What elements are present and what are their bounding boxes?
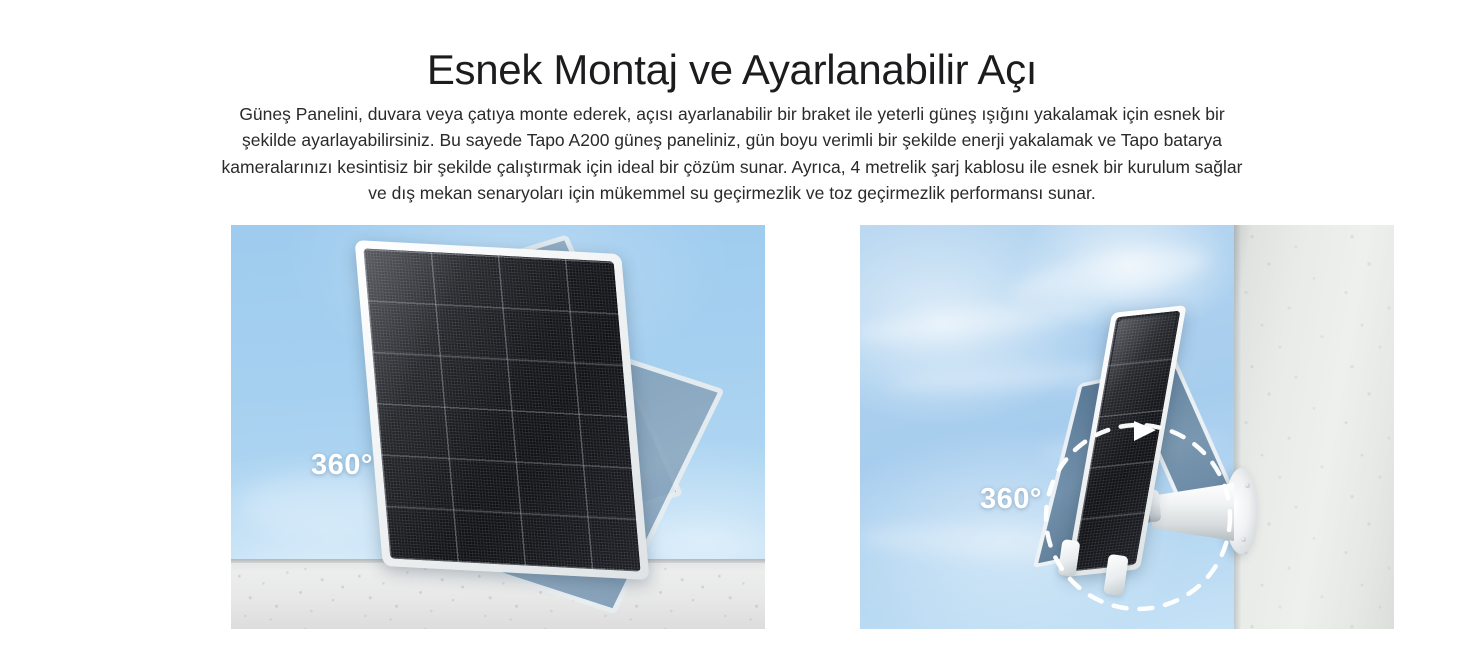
solar-panel <box>355 240 650 580</box>
section-description: Güneş Panelini, duvara veya çatıya monte… <box>212 101 1252 207</box>
feature-image-wall-mount: 360° <box>860 225 1394 629</box>
feature-image-roof-mount: 360° <box>231 225 765 629</box>
page-title: Esnek Montaj ve Ayarlanabilir Açı <box>0 42 1464 98</box>
product-feature-section: Esnek Montaj ve Ayarlanabilir Açı Güneş … <box>0 0 1464 657</box>
rotation-circle-icon <box>1038 417 1238 617</box>
concrete-texture <box>1234 225 1394 629</box>
mount-screw <box>1245 483 1250 488</box>
rotation-label-360: 360° <box>980 483 1042 516</box>
mount-screw <box>1241 537 1246 542</box>
feature-image-row: 360° <box>191 209 1274 613</box>
panel-cell-grid <box>363 248 640 571</box>
rotation-label-360: 360° <box>311 449 373 482</box>
concrete-wall <box>1234 225 1394 629</box>
